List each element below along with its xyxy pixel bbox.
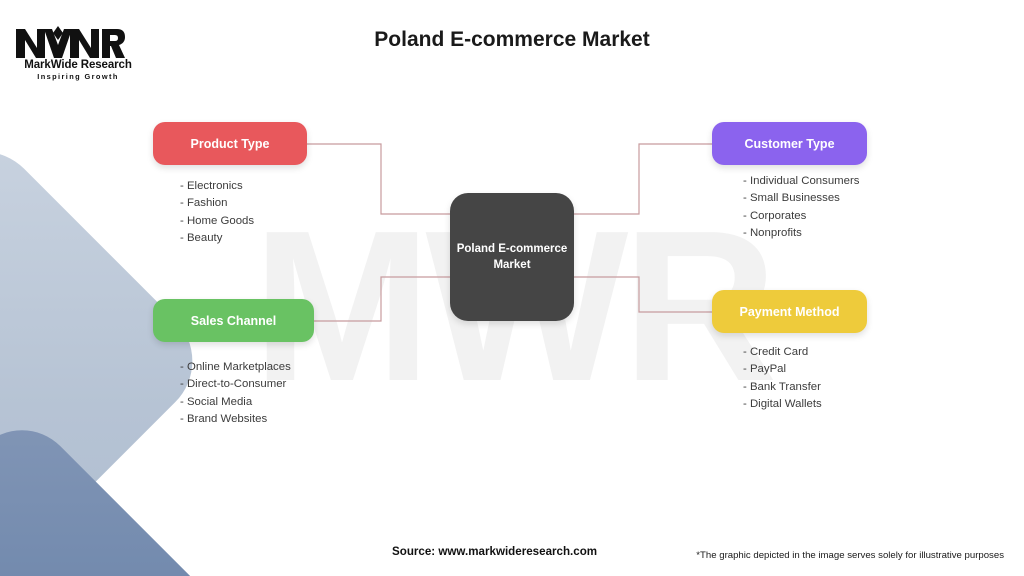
diagram-canvas: MWR MarkWide Research Inspiring Growth P… [0, 0, 1024, 576]
node-customer-type[interactable]: Customer Type [712, 122, 867, 165]
list-item: - Online Marketplaces [180, 359, 291, 376]
connector-customer-type [574, 144, 712, 214]
node-center-line1: Poland E-commerce [457, 241, 568, 257]
items-sales-channel: - Online Marketplaces - Direct-to-Consum… [180, 359, 291, 428]
list-item: - Electronics [180, 178, 254, 195]
node-product-type-label: Product Type [191, 137, 270, 151]
connector-sales-channel [314, 277, 450, 321]
connector-payment-method [574, 277, 712, 312]
list-item: - Direct-to-Consumer [180, 376, 291, 393]
list-item: - Nonprofits [743, 225, 860, 242]
list-item: - PayPal [743, 361, 822, 378]
disclaimer-text: *The graphic depicted in the image serve… [696, 550, 1004, 561]
node-center[interactable]: Poland E-commerce Market [450, 193, 574, 321]
items-payment-method: - Credit Card - PayPal - Bank Transfer -… [743, 344, 822, 413]
list-item: - Small Businesses [743, 190, 860, 207]
node-sales-channel[interactable]: Sales Channel [153, 299, 314, 342]
node-customer-type-label: Customer Type [744, 137, 834, 151]
node-center-line2: Market [493, 257, 530, 273]
node-payment-method[interactable]: Payment Method [712, 290, 867, 333]
list-item: - Brand Websites [180, 411, 291, 428]
list-item: - Bank Transfer [743, 379, 822, 396]
list-item: - Corporates [743, 208, 860, 225]
list-item: - Digital Wallets [743, 396, 822, 413]
source-label: Source: www.markwideresearch.com [392, 545, 597, 558]
items-customer-type: - Individual Consumers - Small Businesse… [743, 173, 860, 242]
list-item: - Home Goods [180, 213, 254, 230]
node-payment-method-label: Payment Method [739, 305, 839, 319]
list-item: - Individual Consumers [743, 173, 860, 190]
connector-product-type [307, 144, 450, 214]
list-item: - Credit Card [743, 344, 822, 361]
list-item: - Fashion [180, 195, 254, 212]
node-sales-channel-label: Sales Channel [191, 314, 276, 328]
list-item: - Beauty [180, 230, 254, 247]
items-product-type: - Electronics - Fashion - Home Goods - B… [180, 178, 254, 247]
node-product-type[interactable]: Product Type [153, 122, 307, 165]
list-item: - Social Media [180, 394, 291, 411]
